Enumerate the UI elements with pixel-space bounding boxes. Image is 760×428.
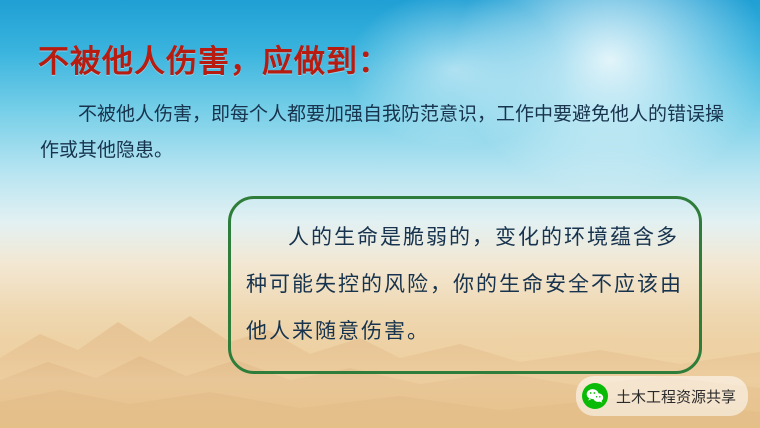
- watermark-label: 土木工程资源共享: [616, 386, 736, 407]
- watermark-badge: 土木工程资源共享: [576, 376, 748, 416]
- slide-canvas: 不被他人伤害，应做到： 不被他人伤害，即每个人都要加强自我防范意识，工作中要避免…: [0, 0, 760, 428]
- wechat-icon: [582, 383, 608, 409]
- slide-title: 不被他人伤害，应做到：: [38, 36, 390, 81]
- slide-body-paragraph: 不被他人伤害，即每个人都要加强自我防范意识，工作中要避免他人的错误操作或其他隐患…: [40, 96, 730, 168]
- quote-text: 人的生命是脆弱的，变化的环境蕴含多种可能失控的风险，你的生命安全不应该由他人来随…: [246, 214, 686, 355]
